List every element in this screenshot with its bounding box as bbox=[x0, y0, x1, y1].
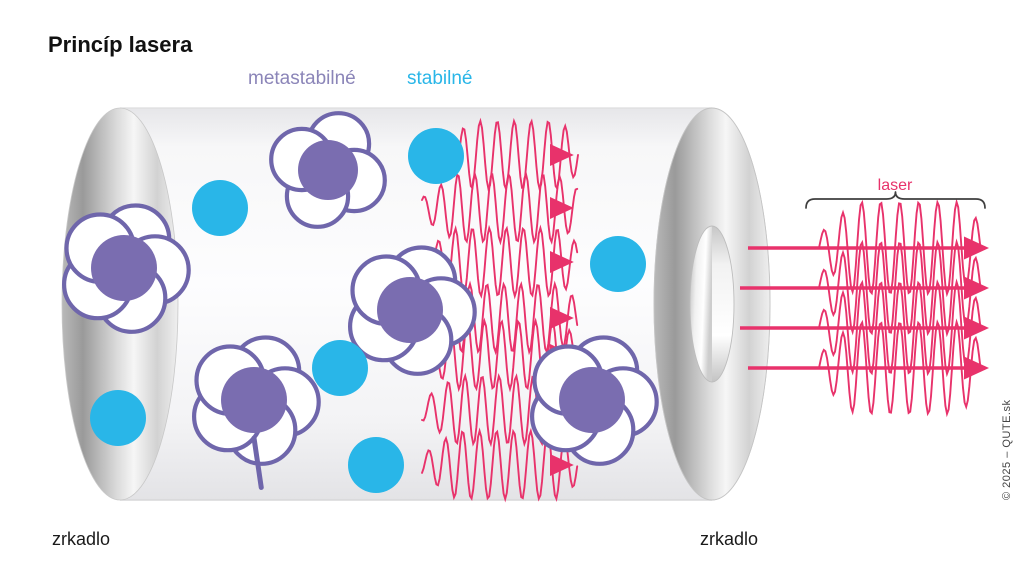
atom-stable bbox=[90, 390, 146, 446]
output-laser-beams bbox=[740, 202, 985, 414]
atom-nucleus bbox=[91, 235, 157, 301]
atom-stable bbox=[408, 128, 464, 184]
copyright-notice: © 2025 – QUTE.sk bbox=[1001, 400, 1013, 500]
laser-principle-diagram: laser Princíp lasera metastabilné stabil… bbox=[0, 0, 1024, 576]
atom-nucleus bbox=[559, 367, 625, 433]
atom-nucleus bbox=[221, 367, 287, 433]
atom-nucleus bbox=[377, 277, 443, 343]
mirror-right-label: zrkadlo bbox=[700, 529, 758, 549]
laser-label: laser bbox=[878, 177, 913, 194]
laser-brace-group: laser bbox=[806, 177, 985, 208]
mirror-right-face bbox=[654, 108, 770, 500]
legend-label-metastable: metastabilné bbox=[248, 68, 356, 89]
atom-stable bbox=[590, 236, 646, 292]
atom-stable bbox=[312, 340, 368, 396]
atom-nucleus bbox=[298, 140, 358, 200]
page-title: Princíp lasera bbox=[48, 32, 193, 57]
legend-label-stable: stabilné bbox=[407, 68, 473, 89]
atom-stable bbox=[192, 180, 248, 236]
mirror-left-label: zrkadlo bbox=[52, 529, 110, 549]
atom-stable bbox=[348, 437, 404, 493]
diagram-canvas: laser Princíp lasera metastabilné stabil… bbox=[0, 0, 1024, 576]
atom-metastable bbox=[271, 113, 385, 227]
